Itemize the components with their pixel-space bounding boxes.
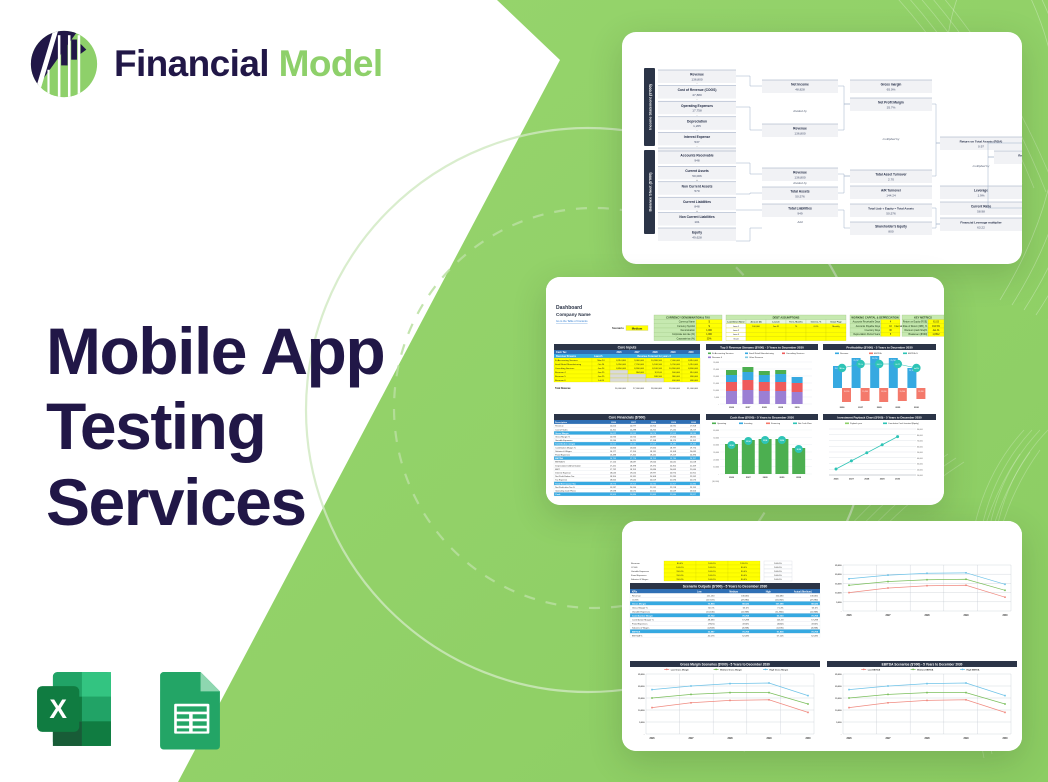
svg-text:27,000,000: 27,000,000	[633, 388, 645, 390]
svg-text:20,974: 20,974	[670, 473, 677, 475]
svg-text:25,700: 25,700	[872, 358, 878, 360]
svg-text:100.0%: 100.0%	[774, 563, 781, 565]
svg-text:17,421: 17,421	[610, 465, 617, 467]
svg-text:18,976: 18,976	[610, 483, 617, 485]
svg-text:40,176: 40,176	[708, 635, 715, 637]
svg-text:80.0%: 80.0%	[677, 563, 683, 565]
svg-text:76,768: 76,768	[742, 615, 749, 617]
svg-text:31,000,000: 31,000,000	[687, 388, 699, 390]
svg-text:2029: 2029	[766, 738, 772, 740]
svg-text:-: -	[697, 113, 698, 117]
svg-text:Income Statement ($'000): Income Statement ($'000)	[648, 83, 652, 129]
svg-text:-: -	[697, 128, 698, 132]
svg-text:890,000: 890,000	[690, 376, 699, 378]
svg-text:Low: Low	[697, 591, 702, 593]
google-sheets-icon[interactable]	[146, 665, 234, 753]
svg-text:18,354: 18,354	[610, 476, 617, 478]
svg-text:100.0%: 100.0%	[774, 567, 781, 569]
svg-text:25,000: 25,000	[835, 674, 842, 676]
svg-text:5,000: 5,000	[836, 722, 842, 724]
svg-text:76,768: 76,768	[811, 615, 818, 617]
svg-text:21,285: 21,285	[670, 476, 677, 478]
svg-text:Revenue 5: Revenue 5	[555, 376, 566, 378]
svg-text:2028: 2028	[762, 407, 768, 409]
svg-text:17,820: 17,820	[650, 447, 657, 449]
svg-text:Breakeven ($'000): Breakeven ($'000)	[908, 333, 927, 336]
svg-text:136,800: 136,800	[794, 131, 805, 135]
svg-text:divided by: divided by	[793, 109, 807, 113]
svg-text:16,177: 16,177	[610, 451, 617, 453]
svg-text:20,041: 20,041	[670, 462, 677, 464]
svg-text:20,308: 20,308	[650, 476, 657, 478]
svg-text:10,000: 10,000	[713, 390, 719, 392]
svg-text:Cash flow ($'000) - 5 Years to: Cash flow ($'000) - 5 Years to December …	[730, 415, 794, 419]
svg-text:61.03: 61.03	[933, 322, 939, 324]
svg-text:Currency Symbol: Currency Symbol	[677, 325, 695, 328]
svg-text:Term, Months: Term, Months	[789, 321, 803, 324]
svg-text:90.0%: 90.0%	[741, 575, 747, 577]
svg-text:1,000: 1,000	[706, 330, 712, 332]
svg-text:Jan-31: Jan-31	[933, 330, 941, 332]
svg-text:17,864: 17,864	[670, 437, 677, 439]
svg-text:COGS: COGS	[631, 567, 638, 569]
svg-text:18,219: 18,219	[690, 429, 697, 431]
svg-text:Go to the Table of Contents: Go to the Table of Contents	[556, 319, 588, 323]
svg-text:20,000: 20,000	[713, 459, 719, 461]
svg-text:60,000: 60,000	[917, 446, 923, 448]
svg-text:Medium: Medium	[632, 327, 643, 331]
svg-text:90,103: 90,103	[777, 615, 784, 617]
svg-text:High: High	[766, 591, 772, 593]
svg-text:949: 949	[797, 211, 802, 215]
svg-text:(47,372): (47,372)	[706, 599, 714, 601]
svg-text:Total Revenue: Total Revenue	[555, 387, 571, 390]
svg-text:5,000: 5,000	[836, 602, 842, 604]
svg-text:Medium: Medium	[729, 591, 738, 593]
dashboard-content: DashboardCompany NameGo to the Table of …	[546, 277, 944, 505]
svg-text:48,590: 48,590	[708, 619, 715, 621]
svg-text:164.5%: 164.5%	[932, 326, 940, 328]
svg-text:10,000: 10,000	[713, 467, 719, 469]
svg-text:Salaries & Wages: Salaries & Wages	[555, 450, 571, 453]
svg-text:948: 948	[694, 158, 699, 162]
svg-text:KEY METRICS: KEY METRICS	[914, 315, 932, 319]
svg-text:2028: 2028	[877, 407, 883, 409]
svg-text:100.0%: 100.0%	[708, 563, 715, 565]
svg-text:2028: 2028	[924, 738, 930, 740]
svg-text:5,000: 5,000	[714, 397, 719, 399]
svg-text:Operating: Operating	[717, 422, 727, 425]
svg-text:100.0%: 100.0%	[676, 567, 683, 569]
svg-text:28,000,000: 28,000,000	[651, 388, 663, 390]
svg-text:COGS: COGS	[632, 599, 639, 601]
svg-text:Salaries & Wages: Salaries & Wages	[631, 578, 649, 581]
svg-text:2027: 2027	[746, 477, 752, 479]
svg-text:57,298: 57,298	[811, 619, 818, 621]
svg-text:10,000: 10,000	[638, 710, 645, 712]
svg-text:Gross Margin Scenarios ($'000): Gross Margin Scenarios ($'000) - 5 Years…	[680, 662, 770, 666]
svg-text:Accounts Receivable: Accounts Receivable	[680, 154, 713, 158]
microsoft-excel-icon[interactable]: X	[30, 665, 118, 753]
svg-text:Core Inputs: Core Inputs	[618, 345, 637, 349]
svg-text:810,000: 810,000	[690, 372, 699, 374]
svg-text:22,884: 22,884	[690, 483, 697, 485]
svg-text:15,555: 15,555	[610, 444, 617, 446]
svg-text:17,553: 17,553	[670, 433, 677, 435]
svg-text:20,000: 20,000	[638, 686, 645, 688]
svg-text:32,54: 32,54	[746, 440, 750, 443]
svg-text:Net Income: Net Income	[791, 83, 809, 87]
svg-text:2030: 2030	[914, 407, 920, 409]
svg-text:EBITDA: EBITDA	[632, 630, 641, 633]
svg-text:Leverage: Leverage	[974, 189, 988, 193]
svg-text:Accounts Payable Days: Accounts Payable Days	[856, 325, 881, 328]
svg-text:22,840: 22,840	[670, 494, 677, 496]
svg-text:Contribution margin: Contribution margin	[555, 443, 576, 446]
svg-text:5,000: 5,000	[639, 722, 645, 724]
svg-text:Profitability ($'000) - 5 Year: Profitability ($'000) - 5 Years to Decem…	[846, 345, 913, 349]
svg-text:Operating Expenses: Operating Expenses	[681, 104, 713, 108]
svg-text:32,54: 32,54	[797, 448, 801, 451]
svg-text:2029: 2029	[963, 615, 969, 617]
svg-text:Revenue: Revenue	[555, 426, 564, 428]
svg-text:Corporate tax rate (%): Corporate tax rate (%)	[672, 333, 695, 336]
svg-text:19,375: 19,375	[650, 465, 657, 467]
svg-text:100.0%: 100.0%	[774, 575, 781, 577]
svg-text:16,576: 16,576	[650, 433, 657, 435]
svg-text:20,264: 20,264	[630, 487, 637, 489]
scenario-analysis-card[interactable]: Revenue80.0%100.0%120.0%100.0%COGS100.0%…	[622, 521, 1022, 751]
svg-text:Launch: Launch	[594, 355, 603, 358]
svg-text:Revenue 4: Revenue 4	[555, 372, 566, 374]
svg-text:70,000: 70,000	[917, 441, 923, 443]
svg-text:30%: 30%	[707, 338, 712, 340]
svg-text:2030: 2030	[691, 422, 697, 424]
svg-text:136,800: 136,800	[794, 175, 805, 179]
svg-text:8,900,000: 8,900,000	[634, 368, 645, 370]
svg-text:Dashboard: Dashboard	[556, 305, 582, 311]
svg-text:5,350,000: 5,350,000	[616, 364, 627, 366]
svg-text:Revenue Forecast for years 3: Revenue Forecast for years 3	[637, 355, 671, 358]
svg-text:16,221: 16,221	[630, 440, 637, 442]
svg-text:(47,880): (47,880)	[741, 599, 749, 601]
svg-text:18,797: 18,797	[670, 447, 677, 449]
svg-text:16,887: 16,887	[650, 437, 657, 439]
svg-text:Discount (cash flow)%: Discount (cash flow)%	[904, 329, 927, 332]
svg-text:35.7%: 35.7%	[887, 105, 896, 109]
svg-text:EBITDA: EBITDA	[555, 457, 563, 460]
svg-text:16,799: 16,799	[610, 458, 617, 460]
svg-text:Company Name: Company Name	[556, 312, 591, 317]
svg-text:Net Profit Before Tax: Net Profit Before Tax	[555, 475, 575, 478]
svg-text:18,709: 18,709	[630, 469, 637, 471]
svg-text:(43,092): (43,092)	[775, 599, 783, 601]
svg-text:2029: 2029	[880, 479, 886, 481]
svg-text:50,000: 50,000	[713, 437, 719, 439]
svg-text:5,310,000: 5,310,000	[688, 364, 699, 366]
svg-text:18,486: 18,486	[670, 444, 677, 446]
svg-text:(8107): (8107)	[812, 623, 819, 625]
svg-text:18,398: 18,398	[630, 465, 637, 467]
svg-text:150,480: 150,480	[776, 595, 785, 597]
svg-text:Amount ($): Amount ($)	[751, 321, 762, 324]
svg-text:Description: Description	[555, 421, 568, 424]
svg-text:Cumulative Cash Invested (Equi: Cumulative Cash Invested (Equity)	[888, 422, 919, 425]
svg-text:Revenue: Revenue	[690, 73, 704, 77]
svg-text:400,000: 400,000	[672, 380, 681, 382]
svg-text:800: 800	[888, 229, 893, 233]
poster-stage: Financial Model Mobile App Testing Servi…	[0, 0, 1048, 782]
svg-text:-: -	[697, 82, 698, 86]
svg-text:15,244: 15,244	[610, 440, 617, 442]
svg-text:75,708: 75,708	[811, 631, 818, 633]
svg-text:26,000,000: 26,000,000	[615, 388, 627, 390]
svg-text:Monthly: Monthly	[832, 325, 840, 328]
svg-text:2026: 2026	[649, 738, 655, 740]
svg-text:(3,185): (3,185)	[777, 627, 784, 629]
headline-line-1: Mobile App	[46, 314, 384, 389]
svg-text:110.0%: 110.0%	[676, 575, 683, 577]
svg-text:CURRENCY DENOMINATION & TAX: CURRENCY DENOMINATION & TAX	[666, 315, 710, 319]
svg-text:17,154: 17,154	[630, 451, 637, 453]
svg-text:8,910,800: 8,910,800	[616, 360, 627, 362]
svg-text:Low EBITDA: Low EBITDA	[868, 668, 881, 671]
svg-text:52,095: 52,095	[811, 635, 818, 637]
svg-text:0.97: 0.97	[978, 144, 984, 148]
svg-text:2026: 2026	[616, 352, 622, 354]
svg-text:Revenue 6: Revenue 6	[555, 380, 566, 382]
svg-text:17,198: 17,198	[650, 440, 657, 442]
svg-text:EBIT: EBIT	[555, 469, 560, 471]
svg-text:23,506: 23,506	[690, 491, 697, 493]
svg-text:Jan-25: Jan-25	[598, 372, 605, 374]
svg-text:20,000: 20,000	[917, 469, 923, 471]
svg-text:18,841: 18,841	[690, 437, 697, 439]
svg-text:60.1%: 60.1%	[708, 607, 714, 609]
svg-text:Balance Sheet ($'000): Balance Sheet ($'000)	[648, 172, 652, 212]
svg-text:Net Profit Margin: Net Profit Margin	[878, 101, 904, 105]
svg-text:16,265: 16,265	[650, 429, 657, 431]
svg-text:Gross margin: Gross margin	[881, 83, 902, 87]
svg-text:8,108,100: 8,108,100	[652, 368, 663, 370]
svg-text:48,828: 48,828	[795, 87, 805, 91]
svg-text:480,000: 480,000	[690, 380, 699, 382]
svg-text:2029: 2029	[778, 407, 784, 409]
svg-text:Loan 2: Loan 2	[733, 330, 740, 332]
svg-text:90.0%: 90.0%	[741, 579, 747, 581]
svg-text:49,628: 49,628	[692, 235, 702, 239]
svg-text:19,909: 19,909	[610, 494, 617, 496]
dupont-analysis-card[interactable]: Income Statement ($'000)Balance Sheet ($…	[622, 32, 1022, 264]
svg-text:18,175: 18,175	[670, 440, 677, 442]
svg-text:65.0%: 65.0%	[812, 607, 818, 609]
svg-text:Depreciation: Depreciation	[687, 119, 707, 123]
svg-text:2030: 2030	[688, 352, 694, 354]
svg-text:Grant: Grant	[733, 337, 739, 340]
svg-text:15,200: 15,200	[881, 391, 887, 393]
svg-text:Variable Expenses: Variable Expenses	[631, 570, 650, 573]
svg-text:500,000: 500,000	[672, 372, 681, 374]
svg-text:DEBT ASSUMPTIONS: DEBT ASSUMPTIONS	[773, 315, 800, 319]
svg-text:19,774: 19,774	[690, 447, 697, 449]
svg-text:Corporate tax (%): Corporate tax (%)	[677, 337, 695, 340]
svg-text:Total Net Income Tax: Total Net Income Tax	[555, 482, 576, 485]
svg-text:16,843: 16,843	[630, 447, 637, 449]
svg-text:EBITDA: EBITDA	[874, 352, 882, 355]
svg-text:100.0%: 100.0%	[708, 571, 715, 573]
svg-text:16,931: 16,931	[670, 426, 677, 428]
svg-text:65.0%: 65.0%	[743, 607, 749, 609]
svg-text:2030: 2030	[796, 477, 802, 479]
svg-text:Accounts Receivable Days: Accounts Receivable Days	[853, 321, 881, 324]
svg-text:20,707: 20,707	[690, 458, 697, 460]
svg-text:30,000: 30,000	[917, 464, 923, 466]
svg-text:188,100: 188,100	[654, 376, 663, 378]
svg-text:2028: 2028	[651, 422, 657, 424]
svg-text:Loan 3: Loan 3	[733, 334, 740, 336]
svg-text:32,54: 32,54	[763, 439, 767, 442]
svg-text:19,463: 19,463	[690, 444, 697, 446]
svg-text:(11,969): (11,969)	[741, 611, 749, 613]
financial-dashboard-card[interactable]: DashboardCompany NameGo to the Table of …	[546, 277, 944, 505]
svg-text:15,910: 15,910	[630, 437, 637, 439]
svg-text:Gross Margin %: Gross Margin %	[632, 606, 648, 609]
svg-text:2026: 2026	[729, 477, 735, 479]
svg-text:Launch: Launch	[772, 322, 780, 324]
svg-text:Revenue 4: Revenue 4	[712, 357, 723, 359]
svg-text:Current Liabilities: Current Liabilities	[683, 200, 711, 204]
svg-text:25,000: 25,000	[835, 565, 842, 567]
svg-text:19,997: 19,997	[650, 473, 657, 475]
svg-text:Shareholder's Equity: Shareholder's Equity	[875, 225, 907, 229]
svg-text:2026: 2026	[846, 615, 852, 617]
svg-text:21,329: 21,329	[690, 465, 697, 467]
svg-text:100,000: 100,000	[752, 326, 760, 328]
svg-text:Small Retail Manufacturing: Small Retail Manufacturing	[749, 352, 775, 355]
svg-text:Consulting Services: Consulting Services	[555, 367, 575, 370]
svg-text:984,000: 984,000	[636, 372, 645, 374]
svg-text:Fixed Expenses: Fixed Expenses	[555, 455, 570, 457]
svg-text:20,575: 20,575	[630, 491, 637, 493]
svg-text:19,020: 19,020	[630, 473, 637, 475]
svg-text:58.1%: 58.1%	[914, 368, 919, 370]
svg-text:7,000,000: 7,000,000	[670, 360, 681, 362]
svg-text:multiplied by: multiplied by	[973, 164, 990, 168]
svg-text:15,200: 15,200	[918, 391, 924, 393]
svg-text:2027: 2027	[745, 407, 751, 409]
brand-logo[interactable]: Financial Model	[28, 28, 383, 100]
svg-text:57,105: 57,105	[777, 635, 784, 637]
svg-text:40,000: 40,000	[713, 445, 719, 447]
svg-text:14,311: 14,311	[610, 429, 617, 431]
svg-text:1,0512: 1,0512	[933, 334, 941, 336]
svg-text:25,000: 25,000	[638, 674, 645, 676]
svg-text:52,095: 52,095	[742, 635, 749, 637]
svg-text:Depreciation Period Years: Depreciation Period Years	[853, 333, 880, 336]
svg-text:17,465: 17,465	[630, 455, 637, 457]
brand-name-part1: Financial	[114, 43, 279, 84]
svg-text:120.0%: 120.0%	[740, 563, 747, 565]
svg-text:Loan/Grant Name: Loan/Grant Name	[727, 321, 745, 324]
svg-text:Return on Equity (ROE): Return on Equity (ROE)	[1018, 154, 1022, 158]
svg-text:144.24: 144.24	[886, 193, 896, 197]
svg-text:2030: 2030	[1002, 615, 1008, 617]
svg-text:2029: 2029	[671, 422, 677, 424]
svg-text:73,804: 73,804	[708, 602, 715, 605]
svg-text:Medium Gross Margin: Medium Gross Margin	[720, 668, 743, 671]
svg-text:2028: 2028	[864, 479, 870, 481]
svg-text:101,58: 101,58	[777, 619, 784, 621]
svg-text:Add: Add	[796, 220, 803, 224]
svg-text:Payback year: Payback year	[850, 423, 862, 425]
svg-text:+: +	[696, 178, 698, 182]
svg-text:100.0%: 100.0%	[774, 571, 781, 573]
dupont-diagram: Income Statement ($'000)Balance Sheet ($…	[622, 32, 1022, 264]
svg-text:8,850,000: 8,850,000	[616, 368, 627, 370]
excel-letter: X	[49, 694, 67, 724]
svg-text:Gross Margin: Gross Margin	[555, 432, 569, 435]
svg-text:75,708: 75,708	[742, 631, 749, 633]
svg-text:Depreciation & Amortisation: Depreciation & Amortisation	[555, 464, 581, 467]
svg-text:Total Assets: Total Assets	[790, 190, 809, 194]
svg-text:Grace Page: Grace Page	[830, 321, 842, 324]
svg-text:80,000: 80,000	[917, 435, 923, 437]
svg-text:Cash Tax: Cash Tax	[556, 351, 567, 354]
svg-text:Equity: Equity	[692, 231, 702, 235]
svg-text:Jan-24: Jan-24	[598, 368, 605, 370]
svg-text:Jan-31: Jan-31	[773, 326, 780, 328]
svg-text:Top 5 Revenue Streams ($'000): Top 5 Revenue Streams ($'000) - 5 Years …	[720, 345, 804, 349]
svg-text:9,91,00: 9,91,00	[655, 372, 663, 374]
svg-text:15,954: 15,954	[650, 426, 657, 428]
svg-text:Oct-24: Oct-24	[598, 363, 605, 366]
svg-text:Total Liab + Equity = Total As: Total Liab + Equity = Total Assets	[868, 207, 914, 211]
svg-text:17,509: 17,509	[650, 444, 657, 446]
svg-text:20,663: 20,663	[670, 469, 677, 471]
svg-text:19,287: 19,287	[610, 487, 617, 489]
svg-text:EBITDA %: EBITDA %	[555, 461, 565, 464]
svg-text:22,573: 22,573	[690, 480, 697, 482]
svg-text:30,000: 30,000	[713, 362, 719, 364]
svg-text:(10,000): (10,000)	[712, 481, 719, 483]
svg-text:Fixed Expenses: Fixed Expenses	[632, 623, 648, 625]
svg-text:22,262: 22,262	[690, 476, 697, 478]
svg-text:Cost of Revenue (COGS): Cost of Revenue (COGS)	[678, 88, 717, 92]
svg-text:Financing: Financing	[771, 423, 781, 425]
svg-text:90.0%: 90.0%	[741, 571, 747, 573]
svg-text:(11,860): (11,860)	[776, 611, 784, 613]
svg-text:15,000: 15,000	[835, 698, 842, 700]
svg-text:50,576: 50,576	[886, 211, 896, 215]
svg-text:2.70: 2.70	[888, 177, 894, 181]
svg-text:2029: 2029	[670, 352, 676, 354]
svg-text:(3,858): (3,858)	[742, 627, 749, 629]
svg-text:2026: 2026	[840, 407, 846, 409]
svg-text:Other Revenue: Other Revenue	[749, 356, 764, 359]
svg-text:9,060,000: 9,060,000	[634, 360, 645, 362]
financial-model-circle-logo	[28, 28, 100, 100]
svg-text:Variable Expenses: Variable Expenses	[555, 439, 572, 442]
svg-text:88,920: 88,920	[742, 603, 749, 605]
svg-text:2030: 2030	[1002, 738, 1008, 740]
svg-text:7,700,000: 7,700,000	[634, 364, 645, 366]
svg-text:19,686: 19,686	[650, 469, 657, 471]
svg-text:5,108,100: 5,108,100	[652, 364, 663, 366]
svg-text:Medium EBITDA: Medium EBITDA	[917, 668, 934, 671]
svg-text:2029: 2029	[963, 738, 969, 740]
svg-text:Loan 1: Loan 1	[733, 326, 740, 328]
svg-text:2029: 2029	[895, 407, 901, 409]
